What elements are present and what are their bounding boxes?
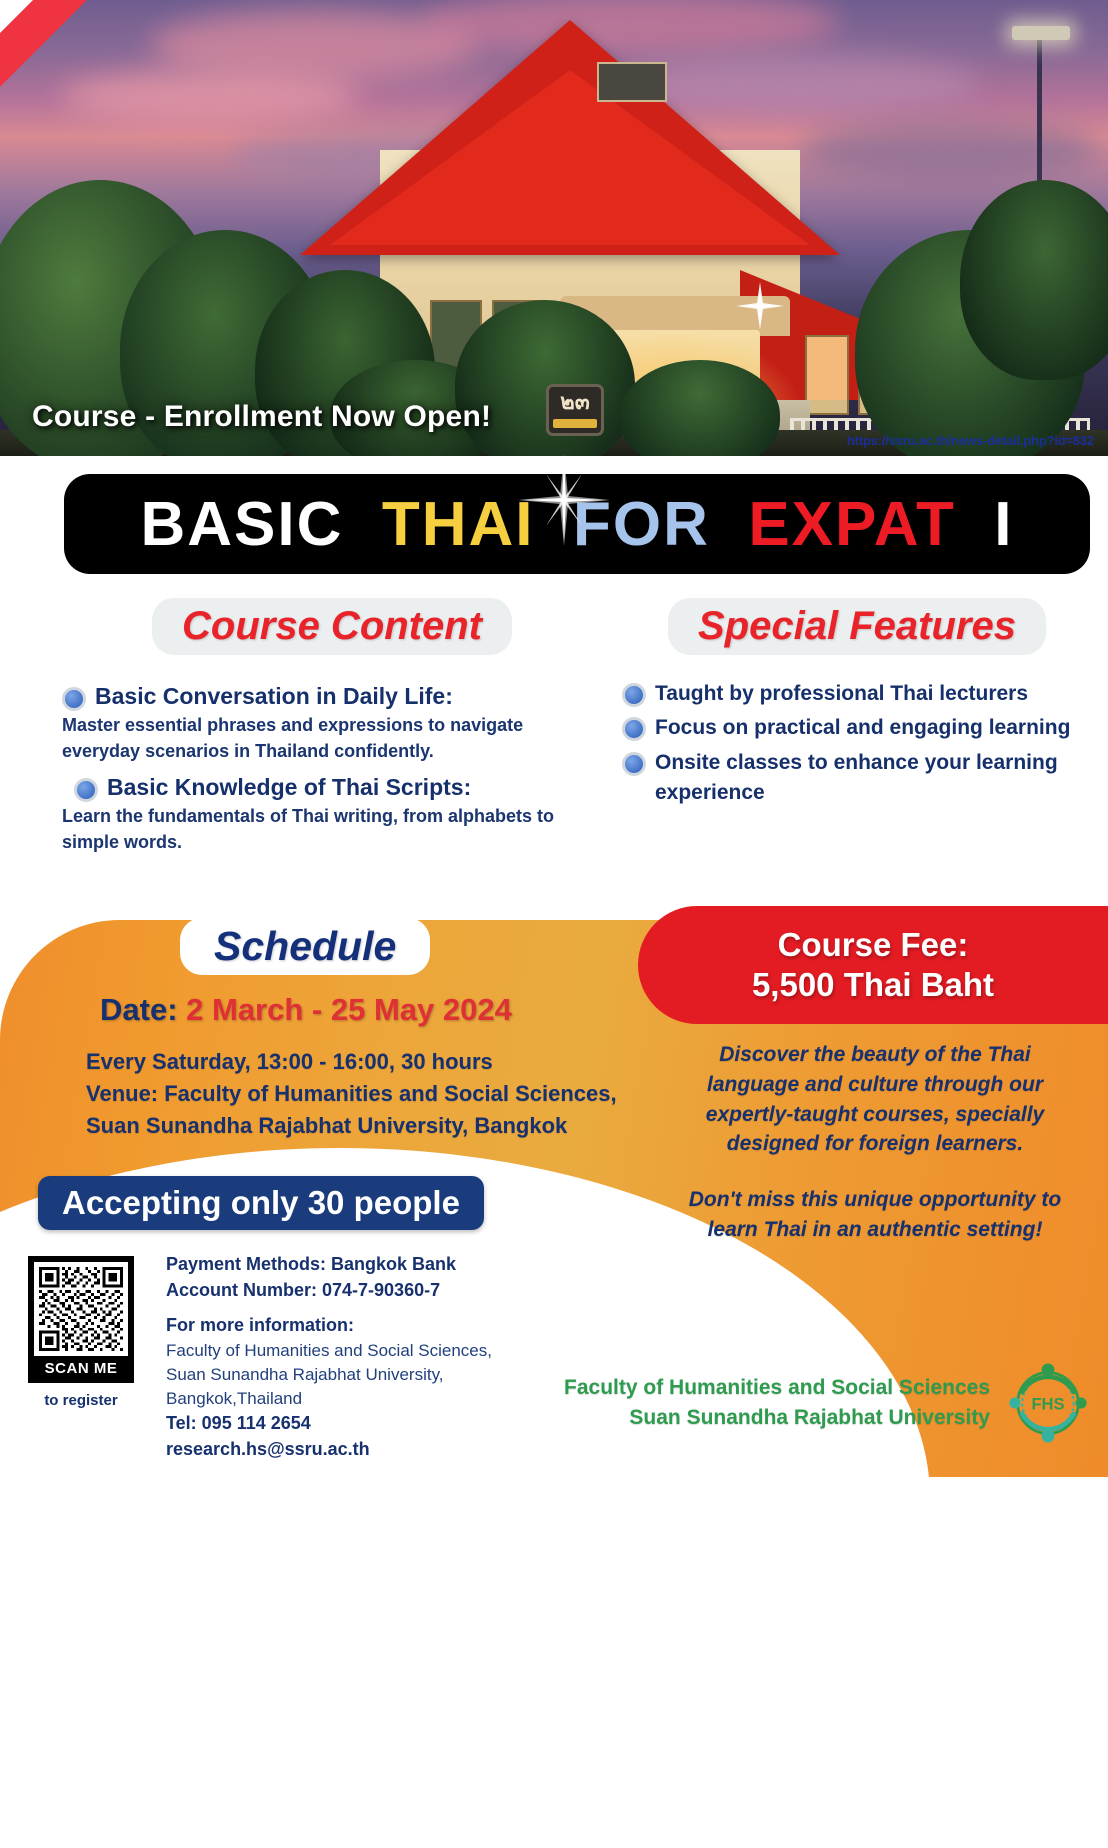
payment-method: Payment Methods: Bangkok Bank xyxy=(166,1252,586,1278)
contact-email[interactable]: research.hs@ssru.ac.th xyxy=(166,1437,586,1463)
course-content-heading: Course Content xyxy=(152,598,512,655)
account-number: Account Number: 074-7-90360-7 xyxy=(166,1278,586,1304)
course-content-item-body: Learn the fundamentals of Thai writing, … xyxy=(62,804,602,855)
course-content-heading-wrap: Course Content xyxy=(62,598,602,655)
qr-section: SCAN ME to register xyxy=(28,1256,134,1409)
course-fee-label: Course Fee: xyxy=(778,925,969,965)
bullet-circle-icon xyxy=(622,683,646,707)
gable-vent-window xyxy=(597,62,667,102)
bullet-circle-icon xyxy=(622,752,646,776)
fhs-logo-icon: FHS xyxy=(1002,1357,1094,1449)
course-fee-amount: 5,500 Thai Baht xyxy=(752,965,994,1005)
footer-university-name: Suan Sunandha Rajabhat University xyxy=(564,1403,990,1433)
special-feature-text: Focus on practical and engaging learning xyxy=(655,713,1070,743)
footer-faculty-name: Faculty of Humanities and Social Science… xyxy=(564,1373,990,1403)
contact-block: Payment Methods: Bangkok Bank Account Nu… xyxy=(166,1252,586,1462)
schedule-heading: Schedule xyxy=(180,918,430,975)
secondary-gable-roof xyxy=(330,70,810,245)
thai-number-sign: ๒๓ xyxy=(546,384,604,436)
course-content-section: Course Content Basic Conversation in Dai… xyxy=(62,598,602,855)
special-feature-item: Taught by professional Thai lecturers xyxy=(622,679,1092,709)
building-window xyxy=(805,335,849,415)
special-features-section: Special Features Taught by professional … xyxy=(622,598,1092,809)
contact-address-line-3: Bangkok,Thailand xyxy=(166,1387,586,1411)
special-feature-item: Focus on practical and engaging learning xyxy=(622,713,1092,743)
qr-code-box[interactable]: SCAN ME xyxy=(28,1256,134,1383)
schedule-details: Every Saturday, 13:00 - 16:00, 30 hours … xyxy=(86,1046,706,1142)
bullet-circle-icon xyxy=(62,687,86,711)
capacity-badge: Accepting only 30 people xyxy=(38,1176,484,1230)
course-fee-badge: Course Fee: 5,500 Thai Baht xyxy=(638,906,1108,1024)
promo-paragraph-1: Discover the beauty of the Thai language… xyxy=(680,1040,1070,1159)
qr-scan-label: SCAN ME xyxy=(34,1356,128,1383)
thai-flag-corner-ribbon xyxy=(0,0,230,230)
course-content-item: Basic Conversation in Daily Life: xyxy=(62,683,602,711)
schedule-date-line: Date: 2 March - 25 May 2024 xyxy=(100,992,512,1028)
course-content-item-body: Master essential phrases and expressions… xyxy=(62,713,602,764)
qr-caption: to register xyxy=(28,1392,134,1409)
course-content-item: Basic Knowledge of Thai Scripts: xyxy=(62,774,602,802)
special-feature-item: Onsite classes to enhance your learning … xyxy=(622,748,1092,809)
promo-text: Discover the beauty of the Thai language… xyxy=(680,1040,1070,1245)
title-word-for: FOR xyxy=(573,490,710,559)
main-title-banner: BASIC THAI FOR EXPAT I xyxy=(64,474,1090,574)
special-features-heading-wrap: Special Features xyxy=(622,598,1092,655)
svg-text:FHS: FHS xyxy=(1031,1394,1064,1413)
special-feature-text: Onsite classes to enhance your learning … xyxy=(655,748,1092,809)
bullet-circle-icon xyxy=(622,717,646,741)
contact-address-line-2: Suan Sunandha Rajabhat University, xyxy=(166,1363,586,1387)
flag-stripe-red xyxy=(0,0,157,230)
more-info-heading: For more information: xyxy=(166,1313,586,1339)
schedule-date-value: 2 March - 25 May 2024 xyxy=(186,992,512,1027)
street-lamp-head xyxy=(1012,26,1070,40)
thai-sign-text: ๒๓ xyxy=(560,389,590,414)
title-word-thai: THAI xyxy=(382,490,535,559)
contact-spacer xyxy=(166,1303,586,1313)
special-feature-text: Taught by professional Thai lecturers xyxy=(655,679,1028,709)
qr-code-matrix xyxy=(39,1267,123,1351)
course-content-item-title: Basic Knowledge of Thai Scripts: xyxy=(107,774,471,801)
qr-code-image[interactable] xyxy=(34,1262,128,1356)
schedule-date-label: Date: xyxy=(100,992,178,1027)
schedule-time-line: Every Saturday, 13:00 - 16:00, 30 hours xyxy=(86,1046,706,1078)
foliage xyxy=(960,180,1108,380)
sunset-cloud xyxy=(800,120,1100,180)
hero-caption: Course - Enrollment Now Open! xyxy=(32,400,491,434)
thai-sign-bar xyxy=(553,419,597,428)
course-content-item-title: Basic Conversation in Daily Life: xyxy=(95,683,453,710)
title-word-level: I xyxy=(994,490,1013,559)
schedule-venue-line-2: Suan Sunandha Rajabhat University, Bangk… xyxy=(86,1110,706,1142)
schedule-venue-line-1: Venue: Faculty of Humanities and Social … xyxy=(86,1078,706,1110)
special-features-heading: Special Features xyxy=(668,598,1046,655)
contact-telephone[interactable]: Tel: 095 114 2654 xyxy=(166,1411,586,1437)
page-title: BASIC THAI FOR EXPAT I xyxy=(140,489,1013,560)
bullet-circle-icon xyxy=(74,778,98,802)
title-word-expat: EXPAT xyxy=(748,490,956,559)
contact-address-line-1: Faculty of Humanities and Social Science… xyxy=(166,1339,586,1363)
footer-organization: Faculty of Humanities and Social Science… xyxy=(564,1373,990,1433)
hero-url[interactable]: https://ssru.ac.th/news-detail.php?id=83… xyxy=(847,433,1094,448)
title-word-basic: BASIC xyxy=(140,490,343,559)
promo-spacer xyxy=(680,1159,1070,1185)
promo-paragraph-2: Don't miss this unique opportunity to le… xyxy=(680,1185,1070,1245)
